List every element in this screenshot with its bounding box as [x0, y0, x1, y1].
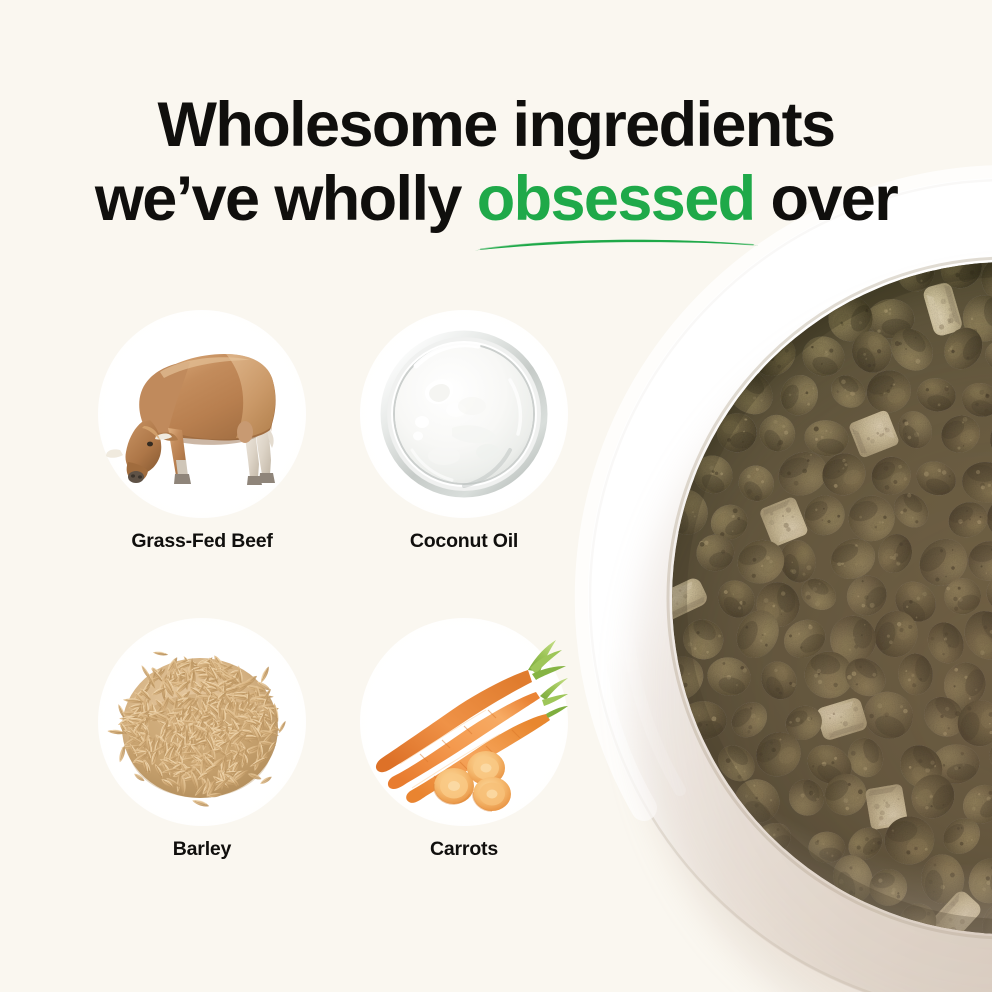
headline-line-2-after: over: [755, 164, 898, 234]
carrot-greens: [528, 640, 568, 718]
ingredient-label: Barley: [72, 838, 332, 861]
infographic-canvas: Wholesome ingredients we’ve wholly obses…: [0, 0, 992, 992]
headline-line-2: we’ve wholly obsessed over: [0, 162, 992, 236]
cow-icon: [98, 310, 306, 518]
ingredient-image-grass-fed-beef: [98, 310, 306, 518]
ingredient-image-carrots: [360, 618, 568, 826]
ingredient-label: Carrots: [334, 838, 594, 861]
ingredient-label: Grass-Fed Beef: [72, 530, 332, 553]
barley-grains-icon: [98, 618, 306, 826]
underline-brush-stroke: [471, 235, 763, 253]
ingredient-item-barley[interactable]: Barley: [72, 618, 332, 861]
ingredient-image-coconut-oil: [360, 310, 568, 518]
carrot-back: [376, 670, 532, 772]
ingredient-item-coconut-oil[interactable]: Coconut Oil: [334, 310, 594, 553]
carrot-slices: [434, 751, 511, 811]
coconut-oil-jar-icon: [360, 310, 568, 518]
ingredient-grid: Grass-Fed Beef: [64, 310, 584, 910]
headline-highlight-wrap: obsessed: [477, 162, 755, 236]
headline-highlight-word: obsessed: [477, 164, 755, 234]
carrots-icon: [360, 618, 568, 826]
headline-line-2-before: we’ve wholly: [95, 164, 477, 234]
ingredient-item-carrots[interactable]: Carrots: [334, 618, 594, 861]
page-title: Wholesome ingredients we’ve wholly obses…: [0, 88, 992, 236]
ingredient-image-barley: [98, 618, 306, 826]
ingredient-item-grass-fed-beef[interactable]: Grass-Fed Beef: [72, 310, 332, 553]
headline-line-1: Wholesome ingredients: [0, 88, 992, 162]
dog-food-bowl: [560, 150, 992, 992]
ingredient-label: Coconut Oil: [334, 530, 594, 553]
